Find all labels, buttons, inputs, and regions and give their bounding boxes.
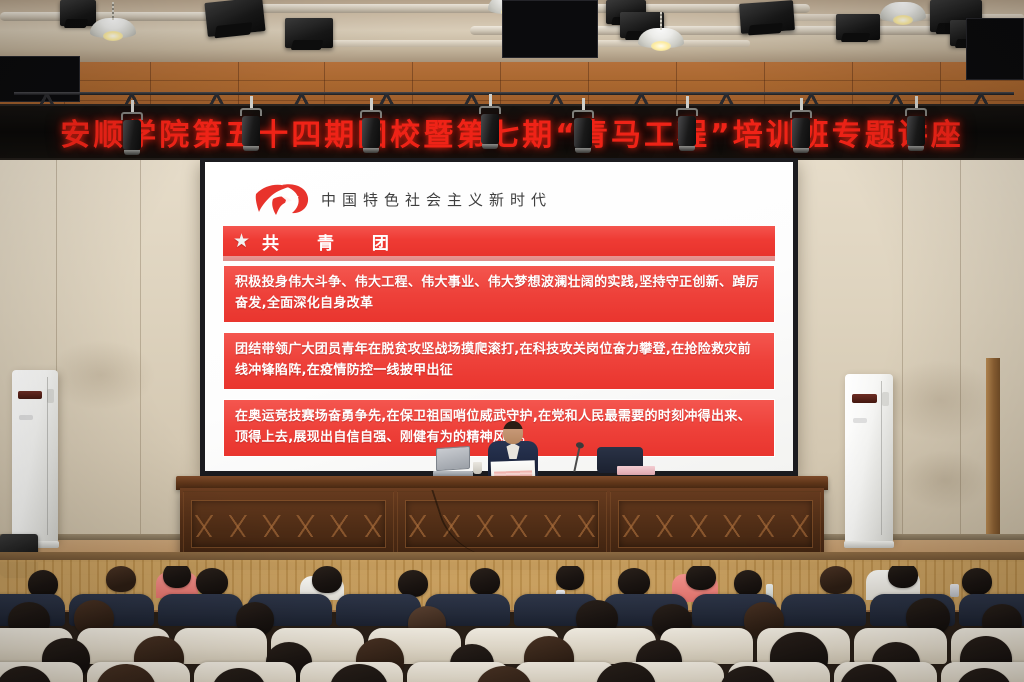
ceiling-speaker-icon [739, 0, 795, 34]
star-icon: ★ [233, 232, 250, 251]
ceiling-speaker-icon [285, 18, 333, 48]
slide-bullet-1: 积极投身伟大斗争、伟大工程、伟大事业、伟大梦想波澜壮阔的实践,坚持守正创新、踔厉… [223, 265, 775, 323]
banner-text: 安顺学院第五十四期团校暨第七期“青马工程”培训班专题讲座 [0, 110, 1024, 154]
seat [158, 594, 243, 626]
audience-head [686, 566, 716, 590]
stage-light-icon [479, 94, 501, 149]
audience-head [106, 566, 136, 592]
laptop [433, 447, 473, 477]
audience-head [734, 570, 762, 596]
audience-head [618, 568, 650, 596]
podium-panel [183, 491, 394, 561]
auditorium-scene: 安顺学院第五十四期团校暨第七期“青马工程”培训班专题讲座 [0, 0, 1024, 682]
door-frame [986, 358, 1000, 540]
audience-head [398, 570, 428, 597]
audience-head [163, 566, 191, 588]
water-cup [473, 462, 482, 474]
air-conditioner-right [845, 374, 893, 542]
slide-header-title: 中国特色社会主义新时代 [321, 189, 552, 210]
pendant-lamp-icon [638, 28, 684, 48]
ceiling-speaker-icon [204, 0, 265, 37]
audience-head [888, 566, 918, 588]
stage-light-icon [572, 98, 594, 153]
audience-head [196, 568, 228, 596]
audience-head [470, 568, 500, 595]
pendant-lamp-icon [880, 2, 926, 22]
pendant-lamp-icon [90, 18, 136, 38]
nameplate [617, 466, 655, 475]
seat [781, 594, 866, 626]
audience [0, 566, 1024, 682]
audience-head [312, 566, 342, 593]
wall-display-panel [502, 0, 598, 58]
slide-title-text: 共 青 团 [262, 229, 405, 254]
wall-display-panel [966, 18, 1024, 80]
podium-panel [610, 491, 821, 561]
audience-head [556, 566, 584, 590]
stage-light-icon [676, 96, 698, 151]
stage-light-icon [360, 98, 382, 153]
ceiling-speaker-icon [836, 14, 880, 40]
stage-light-icon [790, 98, 812, 153]
air-conditioner-left [12, 370, 58, 542]
seat-row [0, 594, 1024, 626]
stage-light-icon [121, 100, 143, 155]
audience-head [820, 566, 852, 594]
audience-head [962, 568, 992, 595]
slide-title-bar: ★ 共 青 团 [223, 226, 775, 256]
slide-header: 中国特色社会主义新时代 [223, 176, 775, 222]
seat [174, 628, 267, 664]
led-banner: 安顺学院第五十四期团校暨第七期“青马工程”培训班专题讲座 [0, 104, 1024, 160]
communist-youth-league-flag-logo-icon [253, 181, 311, 217]
stage-light-icon [905, 96, 927, 151]
slide-bullet-2: 团结带领广大团员青年在脱贫攻坚战场摸爬滚打,在科技攻关岗位奋力攀登,在抢险救灾前… [223, 332, 775, 390]
seated-speaker [487, 421, 539, 481]
stage-light-icon [240, 96, 262, 151]
